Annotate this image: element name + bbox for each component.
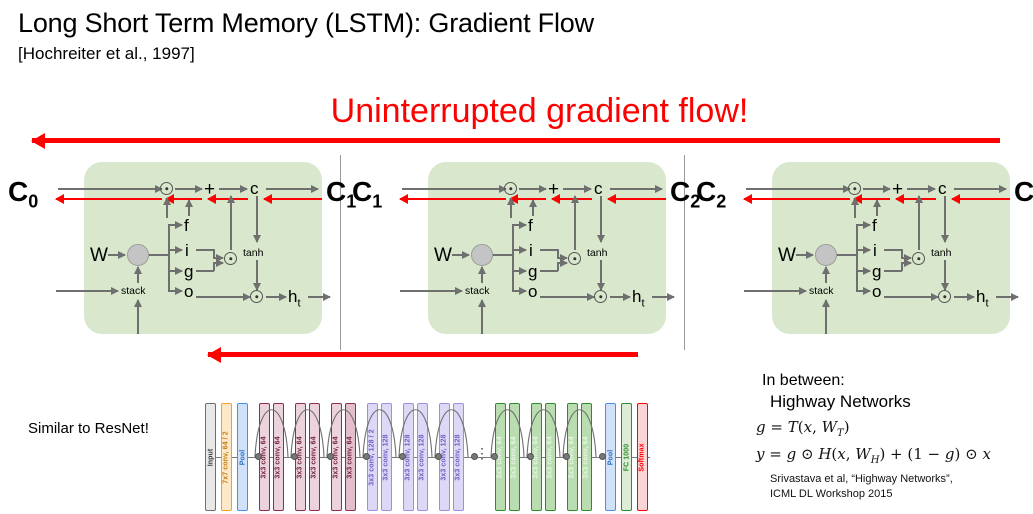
- h-to-next-line: [308, 296, 330, 298]
- resnet-layer-label: Input: [207, 448, 214, 466]
- c-to-tanh-line: [600, 196, 602, 242]
- input-multiply-gate: [224, 252, 237, 265]
- stack-to-w-line: [825, 267, 827, 283]
- new-cell-state-label: c: [938, 180, 947, 197]
- weight-matrix-label: W: [778, 246, 796, 265]
- resnet-layer-block: Input: [205, 403, 216, 511]
- input-from-below-line: [137, 300, 139, 334]
- input-multiply-gate: [912, 252, 925, 265]
- gradient-backward-arrow: [952, 198, 1010, 200]
- resnet-junction-node: [399, 453, 406, 460]
- lstm-cell: C0 + c C1 W stack f i g: [26, 162, 322, 334]
- resnet-layer-block: FC 1000: [621, 403, 632, 511]
- bus-to-o-line: [512, 290, 526, 292]
- resnet-layer-label: 3x3 conv, 64: [533, 436, 540, 478]
- f-riser: [876, 200, 878, 216]
- resnet-junction-node: [491, 453, 498, 460]
- g-into-multiply: [213, 262, 223, 264]
- resnet-layer-block: Pool: [237, 403, 248, 511]
- forget-multiply-gate: [160, 182, 173, 195]
- gate-bus-vertical: [856, 224, 858, 290]
- cell-state-in-label: C2: [696, 178, 726, 211]
- bus-to-f-line: [168, 224, 182, 226]
- resnet-junction-node: [435, 453, 442, 460]
- bus-to-g-line: [168, 270, 182, 272]
- resnet-layer-label: 3x3 conv, 128: [441, 434, 448, 480]
- gate-g-label: g: [184, 263, 193, 280]
- gradient-backward-arrow: [56, 198, 162, 200]
- resnet-layer-label: 3x3 conv, 64: [569, 436, 576, 478]
- cellstate-to-plus-line: [519, 188, 546, 190]
- hidden-state-label: ht: [632, 288, 645, 309]
- headline-text: Uninterrupted gradient flow!: [0, 92, 1033, 131]
- gradient-backward-arrow: [264, 198, 322, 200]
- resnet-layer-label: 3x3 conv, 64: [261, 436, 268, 478]
- page-title: Long Short Term Memory (LSTM): Gradient …: [18, 8, 594, 39]
- gate-f-label: f: [184, 217, 189, 234]
- c-to-next-line: [954, 188, 1006, 190]
- tanh-label: tanh: [931, 248, 951, 259]
- resnet-layer-label: Softmax: [639, 443, 646, 471]
- input-to-add-line: [574, 196, 576, 250]
- o-to-output-line: [196, 296, 250, 298]
- f-to-multiply-line: [854, 198, 856, 218]
- forget-multiply-gate: [848, 182, 861, 195]
- cell-state-out-label: C3: [1014, 178, 1033, 211]
- hidden-state-label: ht: [288, 288, 301, 309]
- gradient-backward-arrow: [744, 198, 850, 200]
- resnet-layer-label: 3x3 conv, 64: [497, 436, 504, 478]
- resnet-layer-label: 3x3 conv, 64: [311, 436, 318, 478]
- f-riser: [532, 200, 534, 216]
- weight-node: [127, 244, 149, 266]
- output-multiply-gate: [594, 290, 607, 303]
- hidden-input-line: [744, 290, 806, 292]
- gate-bus-line: [149, 254, 169, 256]
- gradient-flow-arrow: [32, 138, 1000, 143]
- gate-o-label: o: [184, 283, 193, 300]
- weight-node: [471, 244, 493, 266]
- tanh-to-output-line: [944, 260, 946, 290]
- input-multiply-gate: [568, 252, 581, 265]
- cellstate-to-plus-line: [863, 188, 890, 190]
- o-to-output-line: [540, 296, 594, 298]
- cell-state-forward-line: [58, 188, 162, 190]
- output-to-h-line: [266, 296, 286, 298]
- weight-matrix-label: W: [434, 246, 452, 265]
- input-to-add-line: [230, 196, 232, 250]
- output-multiply-gate: [938, 290, 951, 303]
- resnet-layer-label: 3x3 conv, 64: [547, 436, 554, 478]
- hidden-input-line: [56, 290, 118, 292]
- resnet-layer-label: 3x3 conv, 128 / 2: [369, 429, 376, 485]
- w-to-node-line: [108, 254, 125, 256]
- resnet-layer-block: 3x3 conv, 64: [545, 403, 556, 511]
- resnet-layer-label: 3x3 conv, 128: [383, 434, 390, 480]
- resnet-note: Similar to ResNet!: [28, 420, 149, 437]
- bus-to-g-line: [856, 270, 870, 272]
- c-to-tanh-line: [944, 196, 946, 242]
- w-to-node-line: [452, 254, 469, 256]
- resnet-layer-block: 3x3 conv, 64: [345, 403, 356, 511]
- tanh-label: tanh: [243, 248, 263, 259]
- stack-to-w-line: [137, 267, 139, 283]
- f-riser: [188, 200, 190, 216]
- g-into-multiply: [901, 262, 911, 264]
- i-branch-line: [540, 249, 558, 251]
- i-branch-line: [196, 249, 214, 251]
- highway-formula-gate: g = T(x, WT): [756, 418, 1026, 439]
- resnet-layer-block: 3x3 conv, 64: [309, 403, 320, 511]
- gate-i-label: i: [185, 242, 189, 259]
- gate-g-label: g: [872, 263, 881, 280]
- gate-f-label: f: [528, 217, 533, 234]
- g-branch-line: [884, 270, 902, 272]
- bus-to-g-line: [512, 270, 526, 272]
- resnet-layer-block: 7x7 conv, 64 / 2: [221, 403, 232, 511]
- h-to-next-line: [996, 296, 1018, 298]
- input-to-add-line: [918, 196, 920, 250]
- resnet-layer-block: 3x3 conv, 64: [273, 403, 284, 511]
- new-cell-state-label: c: [250, 180, 259, 197]
- hidden-input-line: [400, 290, 462, 292]
- f-to-multiply-line: [510, 198, 512, 218]
- resnet-layer-label: 3x3 conv, 128: [419, 434, 426, 480]
- resnet-junction-node: [327, 453, 334, 460]
- resnet-layer-block: Pool: [605, 403, 616, 511]
- resnet-junction-node: [599, 453, 606, 460]
- resnet-layer-label: Pool: [607, 449, 614, 465]
- o-to-output-line: [884, 296, 938, 298]
- gate-o-label: o: [528, 283, 537, 300]
- gradient-backward-arrow: [400, 198, 506, 200]
- bus-to-i-line: [168, 249, 182, 251]
- bus-to-f-line: [856, 224, 870, 226]
- lstm-cell: C2 + c C3 W stack f i g: [714, 162, 1010, 334]
- cell-state-forward-line: [402, 188, 506, 190]
- highway-intro-label: In between:: [762, 372, 1026, 390]
- output-to-h-line: [610, 296, 630, 298]
- h-to-next-line: [652, 296, 674, 298]
- resnet-junction-node: [291, 453, 298, 460]
- gate-o-label: o: [872, 283, 881, 300]
- plus-to-c-line: [907, 188, 935, 190]
- weight-matrix-label: W: [90, 246, 108, 265]
- g-into-multiply: [557, 262, 567, 264]
- resnet-layer-block: Softmax: [637, 403, 648, 511]
- weight-node: [815, 244, 837, 266]
- bus-to-f-line: [512, 224, 526, 226]
- resnet-junction-node: [363, 453, 370, 460]
- resnet-layer-label: 3x3 conv, 128: [405, 434, 412, 480]
- stack-label: stack: [465, 286, 490, 297]
- resnet-layer-block: 3x3 conv, 128: [453, 403, 464, 511]
- input-from-below-line: [481, 300, 483, 334]
- f-to-multiply-line: [166, 198, 168, 218]
- tanh-to-output-line: [256, 260, 258, 290]
- resnet-architecture-diagram: Input7x7 conv, 64 / 2Pool3x3 conv, 643x3…: [205, 372, 650, 514]
- highway-citation: Srivastava et al, “Highway Networks”,ICM…: [770, 472, 1026, 502]
- gate-f-label: f: [872, 217, 877, 234]
- cell-state-forward-line: [746, 188, 850, 190]
- forget-multiply-gate: [504, 182, 517, 195]
- gate-i-label: i: [529, 242, 533, 259]
- cellstate-to-plus-line: [175, 188, 202, 190]
- gate-bus-vertical: [512, 224, 514, 290]
- bus-to-o-line: [856, 290, 870, 292]
- resnet-gradient-arrow: [208, 352, 638, 357]
- slide-canvas: Long Short Term Memory (LSTM): Gradient …: [0, 0, 1033, 514]
- tanh-label: tanh: [587, 248, 607, 259]
- c-to-next-line: [610, 188, 662, 190]
- resnet-junction-node: [563, 453, 570, 460]
- stack-label: stack: [809, 286, 834, 297]
- resnet-layer-block: 3x3 conv, 64: [581, 403, 592, 511]
- resnet-layer-label: 3x3 conv, 64: [347, 436, 354, 478]
- cell-state-in-label: C0: [8, 178, 38, 211]
- c-to-tanh-line: [256, 196, 258, 242]
- resnet-layer-block: 3x3 conv, 128: [417, 403, 428, 511]
- gradient-backward-arrow: [608, 198, 666, 200]
- new-cell-state-label: c: [594, 180, 603, 197]
- resnet-layer-label: FC 1000: [623, 443, 630, 471]
- bus-to-o-line: [168, 290, 182, 292]
- g-branch-line: [196, 270, 214, 272]
- lstm-cell: C1 + c C2 W stack f i g: [370, 162, 666, 334]
- bus-to-i-line: [856, 249, 870, 251]
- gate-bus-vertical: [168, 224, 170, 290]
- plus-to-c-line: [563, 188, 591, 190]
- highway-formula-output: y = g ⊙ H(x, WH) + (1 − g) ⊙ x: [756, 445, 1026, 466]
- resnet-layer-label: 3x3 conv, 64: [275, 436, 282, 478]
- highway-title-label: Highway Networks: [770, 392, 1026, 412]
- page-citation: [Hochreiter et al., 1997]: [18, 44, 195, 64]
- resnet-layer-label: 7x7 conv, 64 / 2: [223, 431, 230, 483]
- input-from-below-line: [825, 300, 827, 334]
- gate-bus-line: [837, 254, 857, 256]
- highway-networks-panel: In between: Highway Networks g = T(x, WT…: [756, 372, 1026, 502]
- w-to-node-line: [796, 254, 813, 256]
- resnet-layer-label: 3x3 conv, 64: [297, 436, 304, 478]
- tanh-to-output-line: [600, 260, 602, 290]
- resnet-layer-label: 3x3 conv, 64: [333, 436, 340, 478]
- gate-i-label: i: [873, 242, 877, 259]
- hidden-state-label: ht: [976, 288, 989, 309]
- resnet-layer-label: 3x3 conv, 128: [455, 434, 462, 480]
- resnet-junction-node: [527, 453, 534, 460]
- resnet-junction-node: [255, 453, 262, 460]
- resnet-layer-label: 3x3 conv, 64: [511, 436, 518, 478]
- stack-to-w-line: [481, 267, 483, 283]
- resnet-layer-block: 3x3 conv, 64: [509, 403, 520, 511]
- plus-to-c-line: [219, 188, 247, 190]
- resnet-ellipsis: ⋮: [475, 446, 489, 460]
- output-to-h-line: [954, 296, 974, 298]
- gate-bus-line: [493, 254, 513, 256]
- bus-to-i-line: [512, 249, 526, 251]
- stack-label: stack: [121, 286, 146, 297]
- cell-state-in-label: C1: [352, 178, 382, 211]
- gate-g-label: g: [528, 263, 537, 280]
- resnet-layer-label: Pool: [239, 449, 246, 465]
- output-multiply-gate: [250, 290, 263, 303]
- resnet-layer-block: 3x3 conv, 128: [381, 403, 392, 511]
- c-to-next-line: [266, 188, 318, 190]
- resnet-layer-label: 3x3 conv, 64: [583, 436, 590, 478]
- i-branch-line: [884, 249, 902, 251]
- g-branch-line: [540, 270, 558, 272]
